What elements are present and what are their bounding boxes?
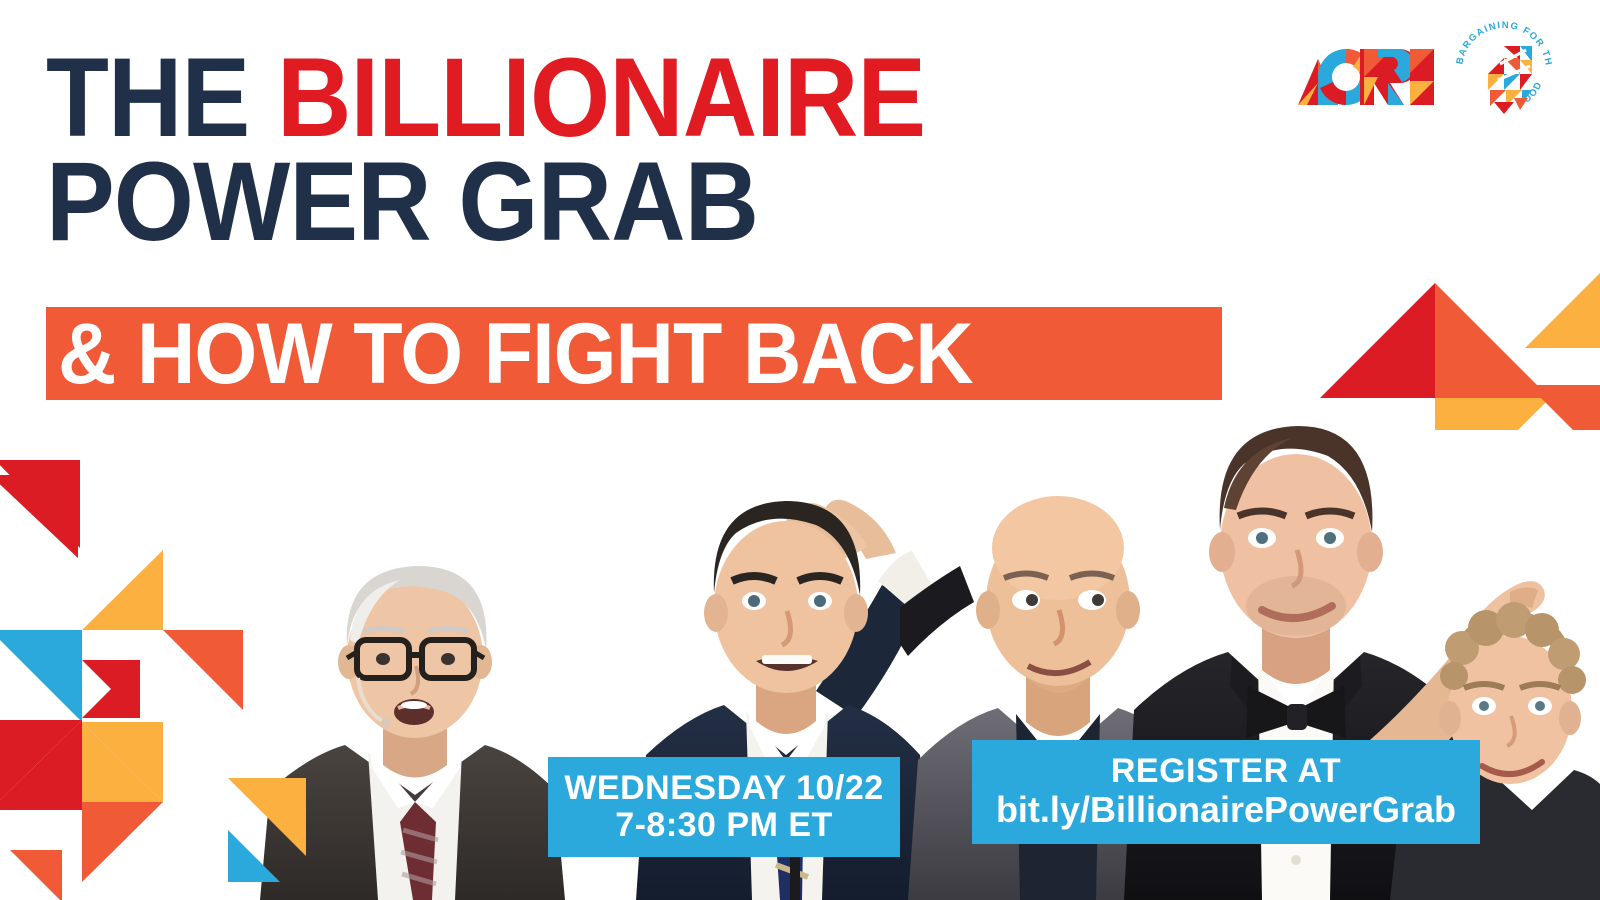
headline-line-2: POWER GRAB — [46, 150, 925, 254]
bargaining-common-good-logo[interactable]: BARGAINING FOR THE COMMON GOOD — [1448, 14, 1560, 126]
logo-group: BARGAINING FOR THE COMMON GOOD — [1276, 14, 1560, 126]
headline-banner-text: & HOW TO FIGHT BACK — [58, 311, 973, 397]
register-url[interactable]: bit.ly/BillionairePowerGrab — [996, 790, 1456, 830]
headline-block: THE BILLIONAIRE POWER GRAB — [46, 46, 1002, 254]
decorative-triangles-center-left — [228, 778, 358, 900]
register-box[interactable]: REGISTER AT bit.ly/BillionairePowerGrab — [972, 740, 1480, 844]
headline-banner: & HOW TO FIGHT BACK — [46, 307, 1222, 400]
event-date-line: WEDNESDAY 10/22 — [564, 770, 883, 807]
event-date-box: WEDNESDAY 10/22 7-8:30 PM ET — [548, 757, 900, 857]
event-time-line: 7-8:30 PM ET — [615, 806, 833, 844]
headline-line-1: THE BILLIONAIRE — [46, 46, 925, 150]
acre-logo[interactable] — [1276, 29, 1434, 111]
poster-canvas: THE BILLIONAIRE POWER GRAB & HOW TO FIGH… — [0, 0, 1600, 900]
register-label: REGISTER AT — [1111, 753, 1341, 790]
